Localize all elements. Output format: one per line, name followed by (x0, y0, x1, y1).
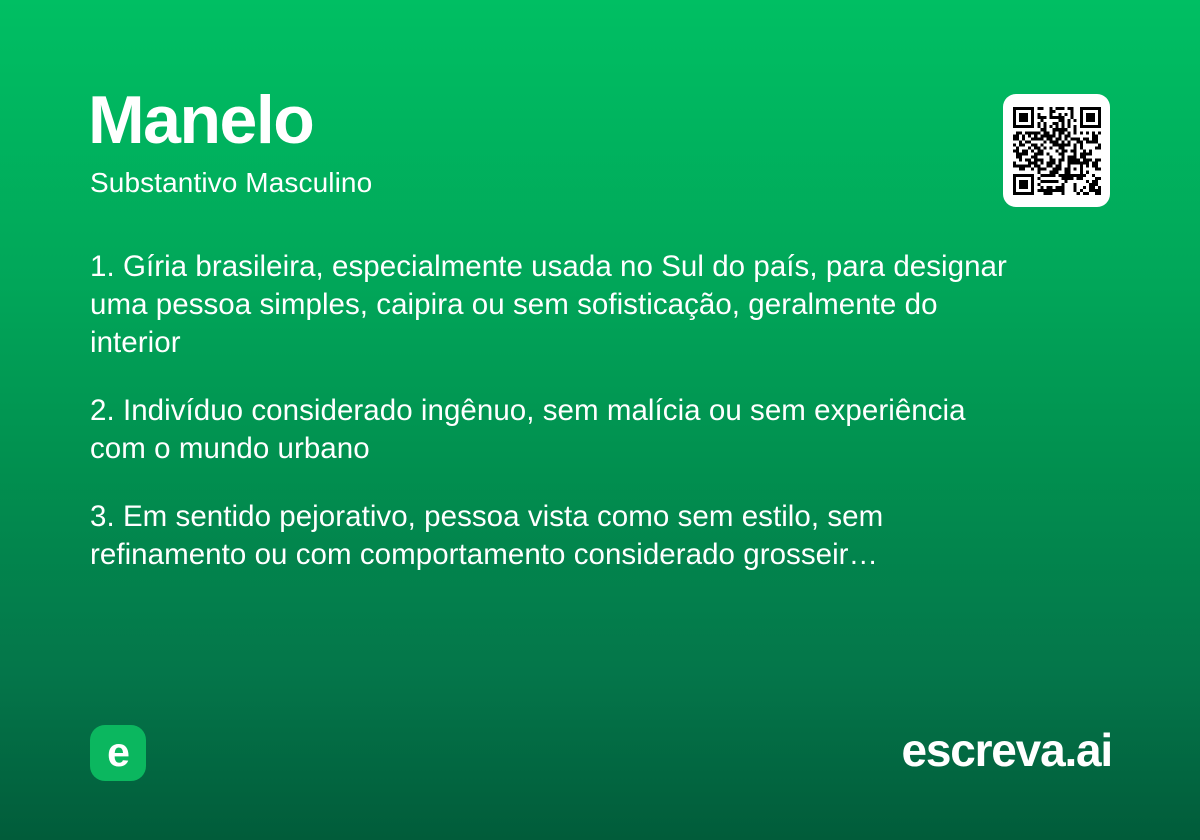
list-item: 1. Gíria brasileira, especialmente usada… (90, 248, 1028, 362)
page-title: Manelo (88, 86, 313, 154)
qr-code-icon[interactable] (1013, 107, 1101, 195)
brand-wordmark: escreva.ai (901, 723, 1112, 778)
part-of-speech-label: Substantivo Masculino (90, 166, 372, 200)
list-item: 2. Indivíduo considerado ingênuo, sem ma… (90, 392, 1028, 468)
logo-letter: e (107, 732, 129, 773)
brand-logo-badge: e (90, 725, 146, 781)
list-item: 3. Em sentido pejorativo, pessoa vista c… (90, 498, 1028, 574)
definition-list: 1. Gíria brasileira, especialmente usada… (90, 248, 1028, 574)
dictionary-card: Manelo Substantivo Masculino 1. Gíria br… (0, 0, 1200, 840)
qr-code-card[interactable] (1003, 94, 1110, 207)
